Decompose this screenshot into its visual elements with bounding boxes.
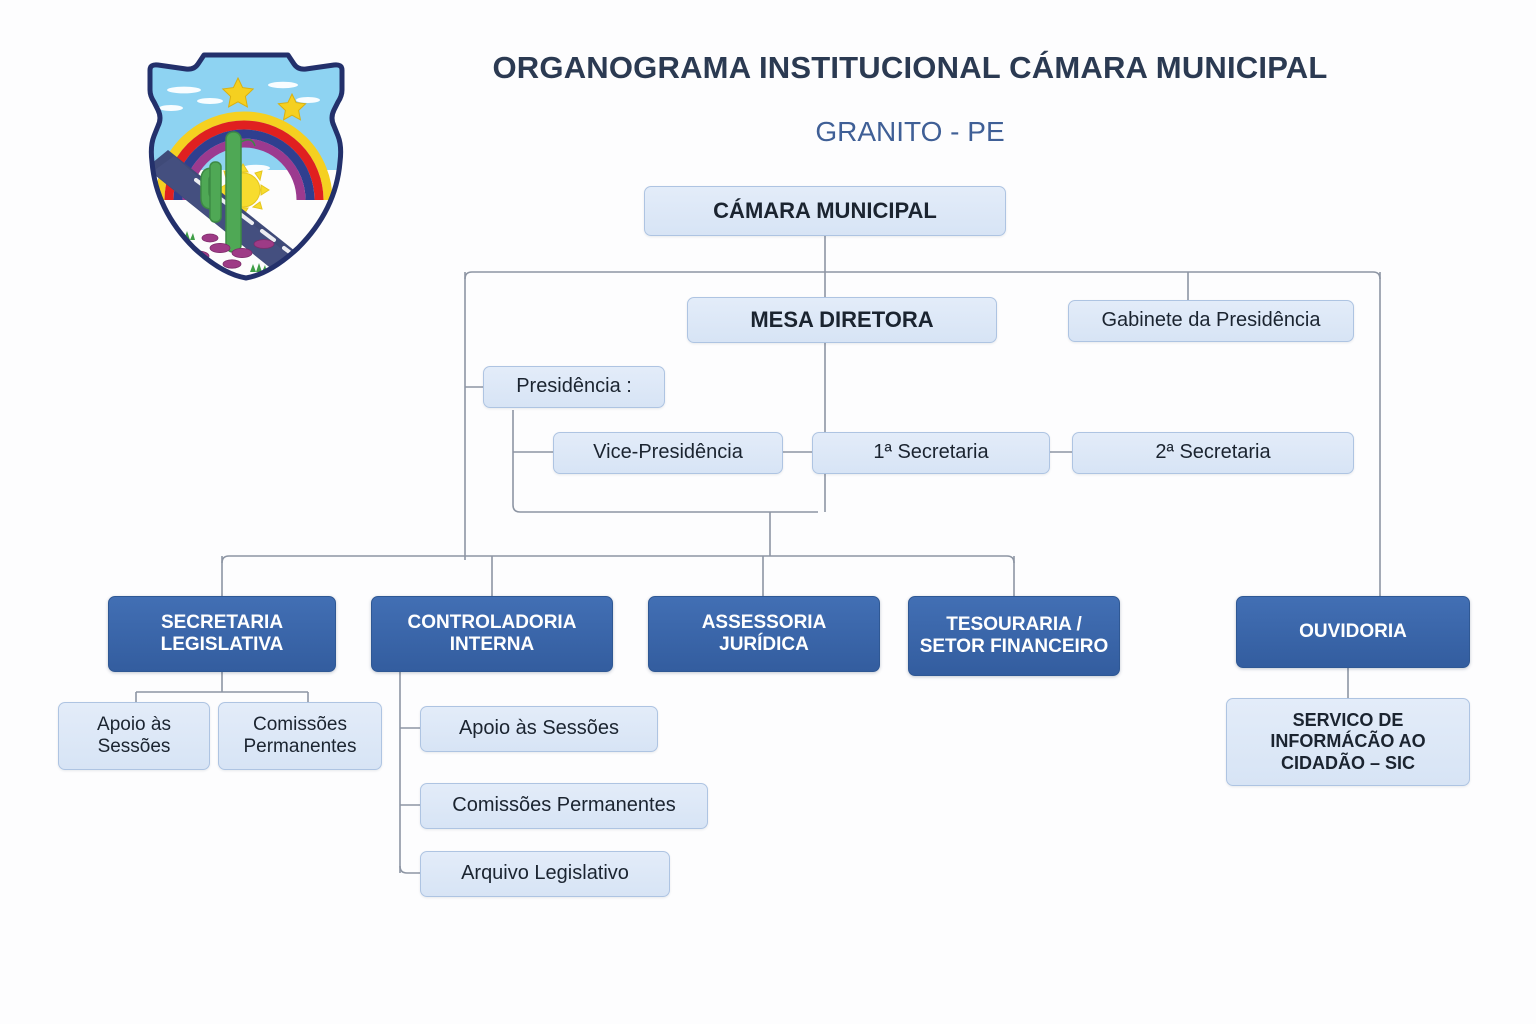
node-camara-municipal[interactable]: CÁMARA MUNICIPAL (644, 186, 1006, 236)
node-ci-arquivo-legislativo[interactable]: Arquivo Legislativo (420, 851, 670, 897)
node-tesouraria-setor-financeiro[interactable]: TESOURARIA / SETOR FINANCEIRO (908, 596, 1120, 676)
organogram-canvas: ORGANOGRAMA INSTITUCIONAL CÁMARA MUNICIP… (0, 0, 1536, 1024)
node-secretaria-legislativa[interactable]: SECRETARIA LEGISLATIVA (108, 596, 336, 672)
crest-artwork (138, 50, 354, 282)
node-presidencia[interactable]: Presidência : (483, 366, 665, 408)
page-title: ORGANOGRAMA INSTITUCIONAL CÁMARA MUNICIP… (380, 50, 1440, 86)
node-ci-apoio-as-sessoes[interactable]: Apoio às Sessões (420, 706, 658, 752)
node-mesa-diretora[interactable]: MESA DIRETORA (687, 297, 997, 343)
node-sl-apoio-as-sessoes[interactable]: Apoio às Sessões (58, 702, 210, 770)
node-controladoria-interna[interactable]: CONTROLADORIA INTERNA (371, 596, 613, 672)
brasao-granito-pe-icon (138, 50, 354, 282)
node-vice-presidencia[interactable]: Vice-Presidência (553, 432, 783, 474)
page-subtitle: GRANITO - PE (380, 116, 1440, 148)
node-gabinete-da-presidencia[interactable]: Gabinete da Presidência (1068, 300, 1354, 342)
node-assessoria-juridica[interactable]: ASSESSORIA JURÍDICA (648, 596, 880, 672)
node-primeira-secretaria[interactable]: 1ª Secretaria (812, 432, 1050, 474)
node-segunda-secretaria[interactable]: 2ª Secretaria (1072, 432, 1354, 474)
node-ouvidoria[interactable]: OUVIDORIA (1236, 596, 1470, 668)
node-sl-comissoes-permanentes[interactable]: Comissões Permanentes (218, 702, 382, 770)
node-servico-informacao-cidadao-sic[interactable]: SERVICO DE INFORMÁCÃO AO CIDADÃO – SIC (1226, 698, 1470, 786)
node-ci-comissoes-permanentes[interactable]: Comissões Permanentes (420, 783, 708, 829)
